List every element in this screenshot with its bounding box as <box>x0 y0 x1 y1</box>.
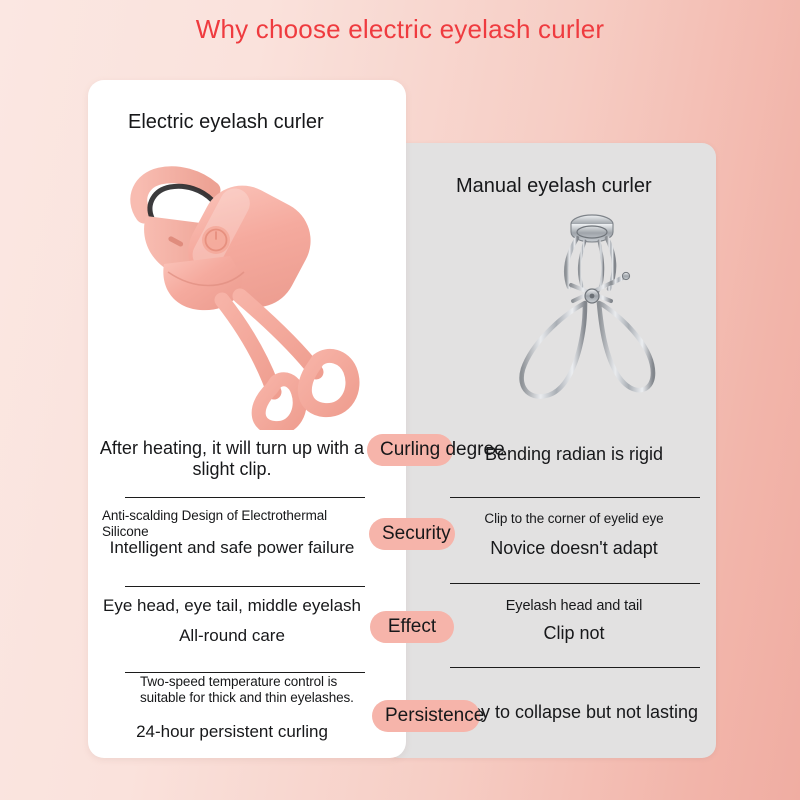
row-2-left-main-sub: Eye head, eye tail, middle eyelash <box>96 596 368 616</box>
electric-eyelash-curler-icon <box>112 160 392 430</box>
row-1-left-divider <box>125 586 365 587</box>
row-2-right-main: Clip not <box>440 623 708 644</box>
row-3-left-main: 24-hour persistent curling <box>96 722 368 742</box>
row-0-right-divider <box>450 497 700 498</box>
badge-curling-degree: Curling degree <box>367 434 453 466</box>
badge-security: Security <box>369 518 455 550</box>
row-0-left-main: After heating, it will turn up with a sl… <box>96 438 368 480</box>
row-0-left-divider <box>125 497 365 498</box>
row-1-right-sub: Clip to the corner of eyelid eye <box>440 511 708 527</box>
manual-column-heading: Manual eyelash curler <box>456 175 652 198</box>
badge-persistence: Persistence <box>372 700 480 732</box>
page-title: Why choose electric eyelash curler <box>0 14 800 45</box>
row-2-right-divider <box>450 667 700 668</box>
infographic-canvas: Why choose electric eyelash curler Elect… <box>0 0 800 800</box>
row-3-left-sub: Two-speed temperature control is suitabl… <box>96 674 368 705</box>
row-1-left-main: Intelligent and safe power failure <box>96 538 368 558</box>
row-2-right-sub: Eyelash head and tail <box>440 599 708 615</box>
row-1-right-divider <box>450 583 700 584</box>
row-1-right-main: Novice doesn't adapt <box>440 538 708 559</box>
row-1-left-sub: Anti-scalding Design of Electrothermal S… <box>96 508 374 539</box>
row-2-left-main: All-round care <box>96 626 368 646</box>
badge-effect: Effect <box>370 611 454 643</box>
row-2-left-divider <box>125 672 365 673</box>
electric-column-heading: Electric eyelash curler <box>128 111 324 134</box>
manual-eyelash-curler-icon <box>493 205 668 410</box>
